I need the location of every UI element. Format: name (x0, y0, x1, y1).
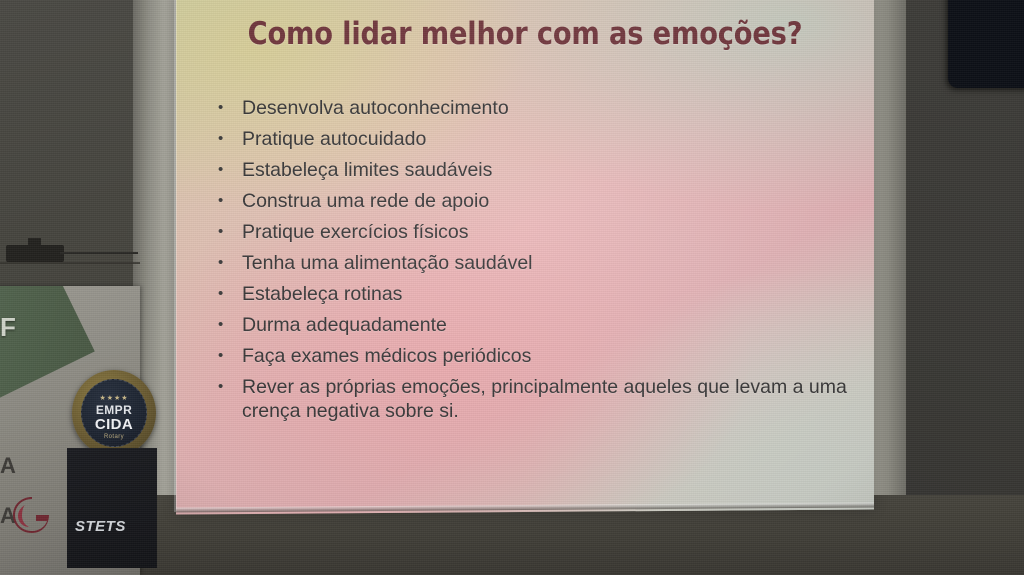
award-seal-icon: ★★★★ EMPR CIDA Rotary (72, 370, 156, 456)
bullet-text: Faça exames médicos periódicos (242, 344, 866, 368)
banner-letter-a-upper: A (0, 453, 16, 479)
wall-seam-line (0, 262, 140, 264)
banner-g-logo-icon (12, 496, 52, 534)
bullet-dot-icon: • (216, 251, 242, 275)
bullet-text: Pratique autocuidado (242, 127, 866, 151)
bullet-dot-icon: • (216, 189, 242, 213)
bullet-item: • Estabeleça limites saudáveis (216, 158, 866, 182)
bullet-text: Durma adequadamente (242, 313, 866, 337)
wall-strip-right (869, 0, 909, 575)
bullet-item: • Durma adequadamente (216, 313, 866, 337)
bullet-dot-icon: • (216, 127, 242, 151)
banner-dark-panel-text: STETS (75, 518, 126, 535)
slide-bullet-list: • Desenvolva autoconhecimento • Pratique… (216, 96, 866, 430)
bullet-item: • Faça exames médicos periódicos (216, 344, 866, 368)
bullet-text: Desenvolva autoconhecimento (242, 96, 866, 120)
banner-letter-f: F (0, 312, 17, 343)
bullet-dot-icon: • (216, 158, 242, 182)
banner-dark-panel: STETS (67, 448, 157, 568)
bullet-item: • Pratique autocuidado (216, 127, 866, 151)
projected-slide: Como lidar melhor com as emoções? • Dese… (176, 0, 874, 515)
bullet-item: • Construa uma rede de apoio (216, 189, 866, 213)
projection-photo-scene: F ★★★★ EMPR CIDA Rotary STETS A A Como l… (0, 0, 1024, 575)
bullet-dot-icon: • (216, 282, 242, 306)
award-seal-inner: ★★★★ EMPR CIDA Rotary (81, 379, 147, 447)
bullet-dot-icon: • (216, 344, 242, 368)
bullet-dot-icon: • (216, 375, 242, 399)
seal-line-1: EMPR (82, 403, 146, 417)
slide-title: Como lidar melhor com as emoções? (218, 16, 832, 52)
bullet-item: • Pratique exercícios físicos (216, 220, 866, 244)
slide-content: Como lidar melhor com as emoções? • Dese… (176, 0, 874, 512)
bullet-dot-icon: • (216, 220, 242, 244)
seal-stars-icon: ★★★★ (82, 394, 146, 402)
bullet-text: Tenha uma alimentação saudável (242, 251, 866, 275)
bullet-text: Rever as próprias emoções, principalment… (242, 375, 866, 423)
seal-line-2: CIDA (82, 416, 146, 433)
dark-box-object-icon (948, 0, 1024, 88)
bullet-text: Construa uma rede de apoio (242, 189, 866, 213)
seal-line-3: Rotary (82, 434, 146, 440)
bullet-item: • Rever as próprias emoções, principalme… (216, 375, 866, 423)
bullet-dot-icon: • (216, 313, 242, 337)
bullet-item: • Desenvolva autoconhecimento (216, 96, 866, 120)
wall-bracket-icon (6, 245, 64, 262)
screen-edge-left (174, 0, 177, 512)
bullet-dot-icon: • (216, 96, 242, 120)
bullet-text: Estabeleça rotinas (242, 282, 866, 306)
bullet-item: • Estabeleça rotinas (216, 282, 866, 306)
wall-cable-line (60, 252, 138, 254)
bullet-text: Estabeleça limites saudáveis (242, 158, 866, 182)
bullet-text: Pratique exercícios físicos (242, 220, 866, 244)
bullet-item: • Tenha uma alimentação saudável (216, 251, 866, 275)
